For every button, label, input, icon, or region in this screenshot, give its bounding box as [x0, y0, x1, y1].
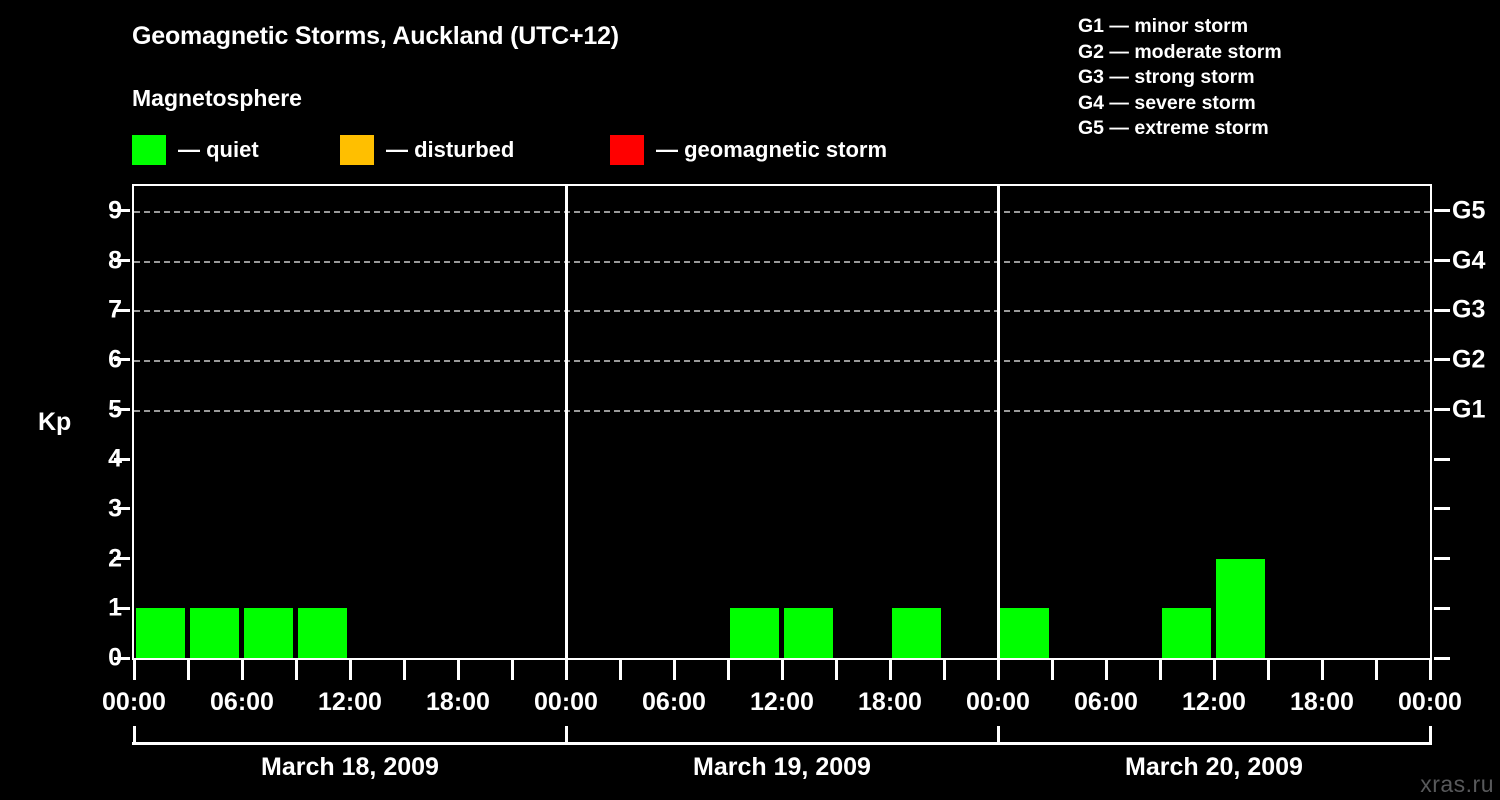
x-axis-tick-label: 12:00 [318, 688, 382, 717]
right-axis-tick-label: G5 [1452, 196, 1485, 225]
date-label: March 18, 2009 [261, 753, 439, 782]
date-bracket-tick [565, 726, 568, 745]
g-scale-item-g2: G2 — moderate storm [1078, 40, 1282, 66]
y-axis-tick-label: 1 [82, 594, 122, 623]
y-axis-tick-label: 7 [82, 296, 122, 325]
y-axis-tick-label: 3 [82, 494, 122, 523]
x-axis-tick-label: 06:00 [210, 688, 274, 717]
x-axis-tick [1105, 660, 1108, 680]
x-axis-tick [727, 660, 730, 680]
legend-label-disturbed: — disturbed [386, 137, 514, 163]
right-axis-tick-label: G1 [1452, 395, 1485, 424]
x-axis-tick [997, 660, 1000, 680]
x-axis-tick-label: 18:00 [426, 688, 490, 717]
x-axis-tick-label: 00:00 [966, 688, 1030, 717]
x-axis-tick [1429, 660, 1432, 680]
right-axis-tick-label: G2 [1452, 345, 1485, 374]
right-axis-tick [1434, 259, 1450, 262]
watermark: xras.ru [1420, 771, 1494, 798]
x-axis-tick [511, 660, 514, 680]
x-axis-tick-label: 18:00 [1290, 688, 1354, 717]
x-axis-tick [295, 660, 298, 680]
day-separator [565, 186, 568, 658]
date-label: March 19, 2009 [693, 753, 871, 782]
y-axis-tick-label: 6 [82, 345, 122, 374]
x-axis-tick [1159, 660, 1162, 680]
right-axis-tick [1434, 209, 1450, 212]
y-axis-tick-label: 2 [82, 544, 122, 573]
date-bracket-tick [1429, 726, 1432, 745]
y-axis-tick-label: 0 [82, 644, 122, 673]
x-axis-tick-label: 06:00 [1074, 688, 1138, 717]
legend-item-quiet: — quiet [132, 133, 259, 167]
right-axis-tick [1434, 408, 1450, 411]
x-axis-tick [673, 660, 676, 680]
x-axis-tick-label: 18:00 [858, 688, 922, 717]
x-axis-tick-label: 12:00 [750, 688, 814, 717]
right-axis-tick [1434, 458, 1450, 461]
chart-bar [190, 608, 239, 658]
chart-bar [1162, 608, 1211, 658]
right-axis-tick [1434, 557, 1450, 560]
x-axis-tick [889, 660, 892, 680]
amber-square-swatch [340, 135, 374, 165]
x-axis-tick [565, 660, 568, 680]
x-axis-tick [1051, 660, 1054, 680]
x-axis-tick [133, 660, 136, 680]
date-label: March 20, 2009 [1125, 753, 1303, 782]
x-axis-tick-label: 00:00 [1398, 688, 1462, 717]
x-axis-tick [349, 660, 352, 680]
right-axis-tick [1434, 358, 1450, 361]
chart-bar [1216, 559, 1265, 658]
g-scale-item-g1: G1 — minor storm [1078, 14, 1282, 40]
gridline [134, 261, 1430, 263]
right-axis-tick [1434, 607, 1450, 610]
right-axis-tick-label: G4 [1452, 246, 1485, 275]
gridline [134, 360, 1430, 362]
red-square-swatch [610, 135, 644, 165]
right-axis-tick-label: G3 [1452, 296, 1485, 325]
x-axis-tick [457, 660, 460, 680]
chart-bar [730, 608, 779, 658]
x-axis-tick-label: 00:00 [534, 688, 598, 717]
g-scale-item-g5: G5 — extreme storm [1078, 116, 1282, 142]
gridline [134, 310, 1430, 312]
legend-item-geomagnetic-storm: — geomagnetic storm [610, 133, 887, 167]
chart-bar [1000, 608, 1049, 658]
legend-label-geomagnetic-storm: — geomagnetic storm [656, 137, 887, 163]
x-axis-tick [781, 660, 784, 680]
chart-bar [892, 608, 941, 658]
green-square-swatch [132, 135, 166, 165]
chart-bar [136, 608, 185, 658]
x-axis-tick [943, 660, 946, 680]
chart-bar [244, 608, 293, 658]
chart-subtitle: Magnetosphere [132, 85, 302, 112]
y-axis-tick-label: 5 [82, 395, 122, 424]
day-separator [997, 186, 1000, 658]
chart-bar [784, 608, 833, 658]
x-axis-tick-label: 00:00 [102, 688, 166, 717]
date-bracket-tick [133, 726, 136, 745]
chart-plot-inner [134, 186, 1430, 658]
x-axis-tick [187, 660, 190, 680]
right-axis-tick [1434, 507, 1450, 510]
x-axis-tick [1267, 660, 1270, 680]
x-axis-tick [835, 660, 838, 680]
x-axis-tick [1213, 660, 1216, 680]
right-axis-tick [1434, 657, 1450, 660]
x-axis-tick [619, 660, 622, 680]
g-scale-legend: G1 — minor storm G2 — moderate storm G3 … [1078, 14, 1282, 142]
x-axis-tick [1375, 660, 1378, 680]
x-axis-tick-label: 12:00 [1182, 688, 1246, 717]
chart-plot-area [132, 184, 1432, 660]
legend-label-quiet: — quiet [178, 137, 259, 163]
date-axis-rule [132, 742, 1432, 745]
chart-bar [298, 608, 347, 658]
y-axis-tick-label: 8 [82, 246, 122, 275]
page-title: Geomagnetic Storms, Auckland (UTC+12) [132, 22, 619, 51]
y-axis-tick-label: 9 [82, 196, 122, 225]
y-axis-tick-label: 4 [82, 445, 122, 474]
g-scale-item-g3: G3 — strong storm [1078, 65, 1282, 91]
legend-item-disturbed: — disturbed [340, 133, 514, 167]
gridline [134, 410, 1430, 412]
x-axis-tick-label: 06:00 [642, 688, 706, 717]
gridline [134, 211, 1430, 213]
x-axis-tick [1321, 660, 1324, 680]
g-scale-item-g4: G4 — severe storm [1078, 91, 1282, 117]
x-axis-tick [241, 660, 244, 680]
x-axis-tick [403, 660, 406, 680]
right-axis-tick [1434, 309, 1450, 312]
y-axis-title: Kp [38, 408, 71, 437]
date-bracket-tick [997, 726, 1000, 745]
